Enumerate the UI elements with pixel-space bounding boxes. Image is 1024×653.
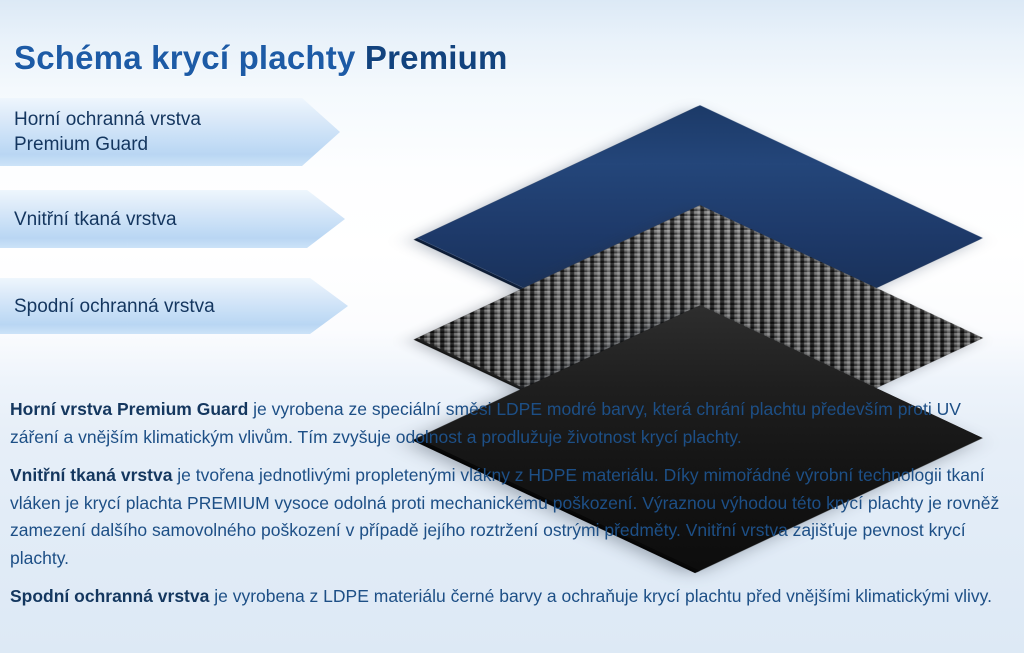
paragraph-bottom-layer-text: je vyrobena z LDPE materiálu černé barvy… [209, 586, 992, 606]
paragraph-top-layer: Horní vrstva Premium Guard je vyrobena z… [10, 396, 1014, 451]
paragraph-top-layer-lead: Horní vrstva Premium Guard [10, 399, 248, 419]
callout-bottom-label: Spodní ochranná vrstva [14, 294, 215, 319]
callout-top-protective-layer: Horní ochranná vrstvaPremium Guard [0, 98, 340, 166]
callout-middle-label: Vnitřní tkaná vrstva [14, 207, 177, 232]
paragraph-bottom-layer: Spodní ochranná vrstva je vyrobena z LDP… [10, 583, 1014, 611]
paragraph-inner-layer: Vnitřní tkaná vrstva je tvořena jednotli… [10, 462, 1014, 572]
callout-top-label: Horní ochranná vrstvaPremium Guard [14, 107, 201, 157]
callout-top-label-line2: Premium Guard [14, 134, 148, 155]
paragraph-bottom-layer-lead: Spodní ochranná vrstva [10, 586, 209, 606]
layer-diagram [380, 52, 1020, 392]
infographic-page: Schéma krycí plachty Premium Horní ochra… [0, 0, 1024, 653]
paragraph-inner-layer-lead: Vnitřní tkaná vrstva [10, 465, 172, 485]
page-title-regular: Schéma krycí plachty [14, 39, 365, 76]
callout-bottom-protective-layer: Spodní ochranná vrstva [0, 278, 348, 334]
body-copy: Horní vrstva Premium Guard je vyrobena z… [10, 396, 1014, 611]
callout-inner-woven-layer: Vnitřní tkaná vrstva [0, 190, 345, 248]
callout-top-label-line1: Horní ochranná vrstva [14, 109, 201, 130]
